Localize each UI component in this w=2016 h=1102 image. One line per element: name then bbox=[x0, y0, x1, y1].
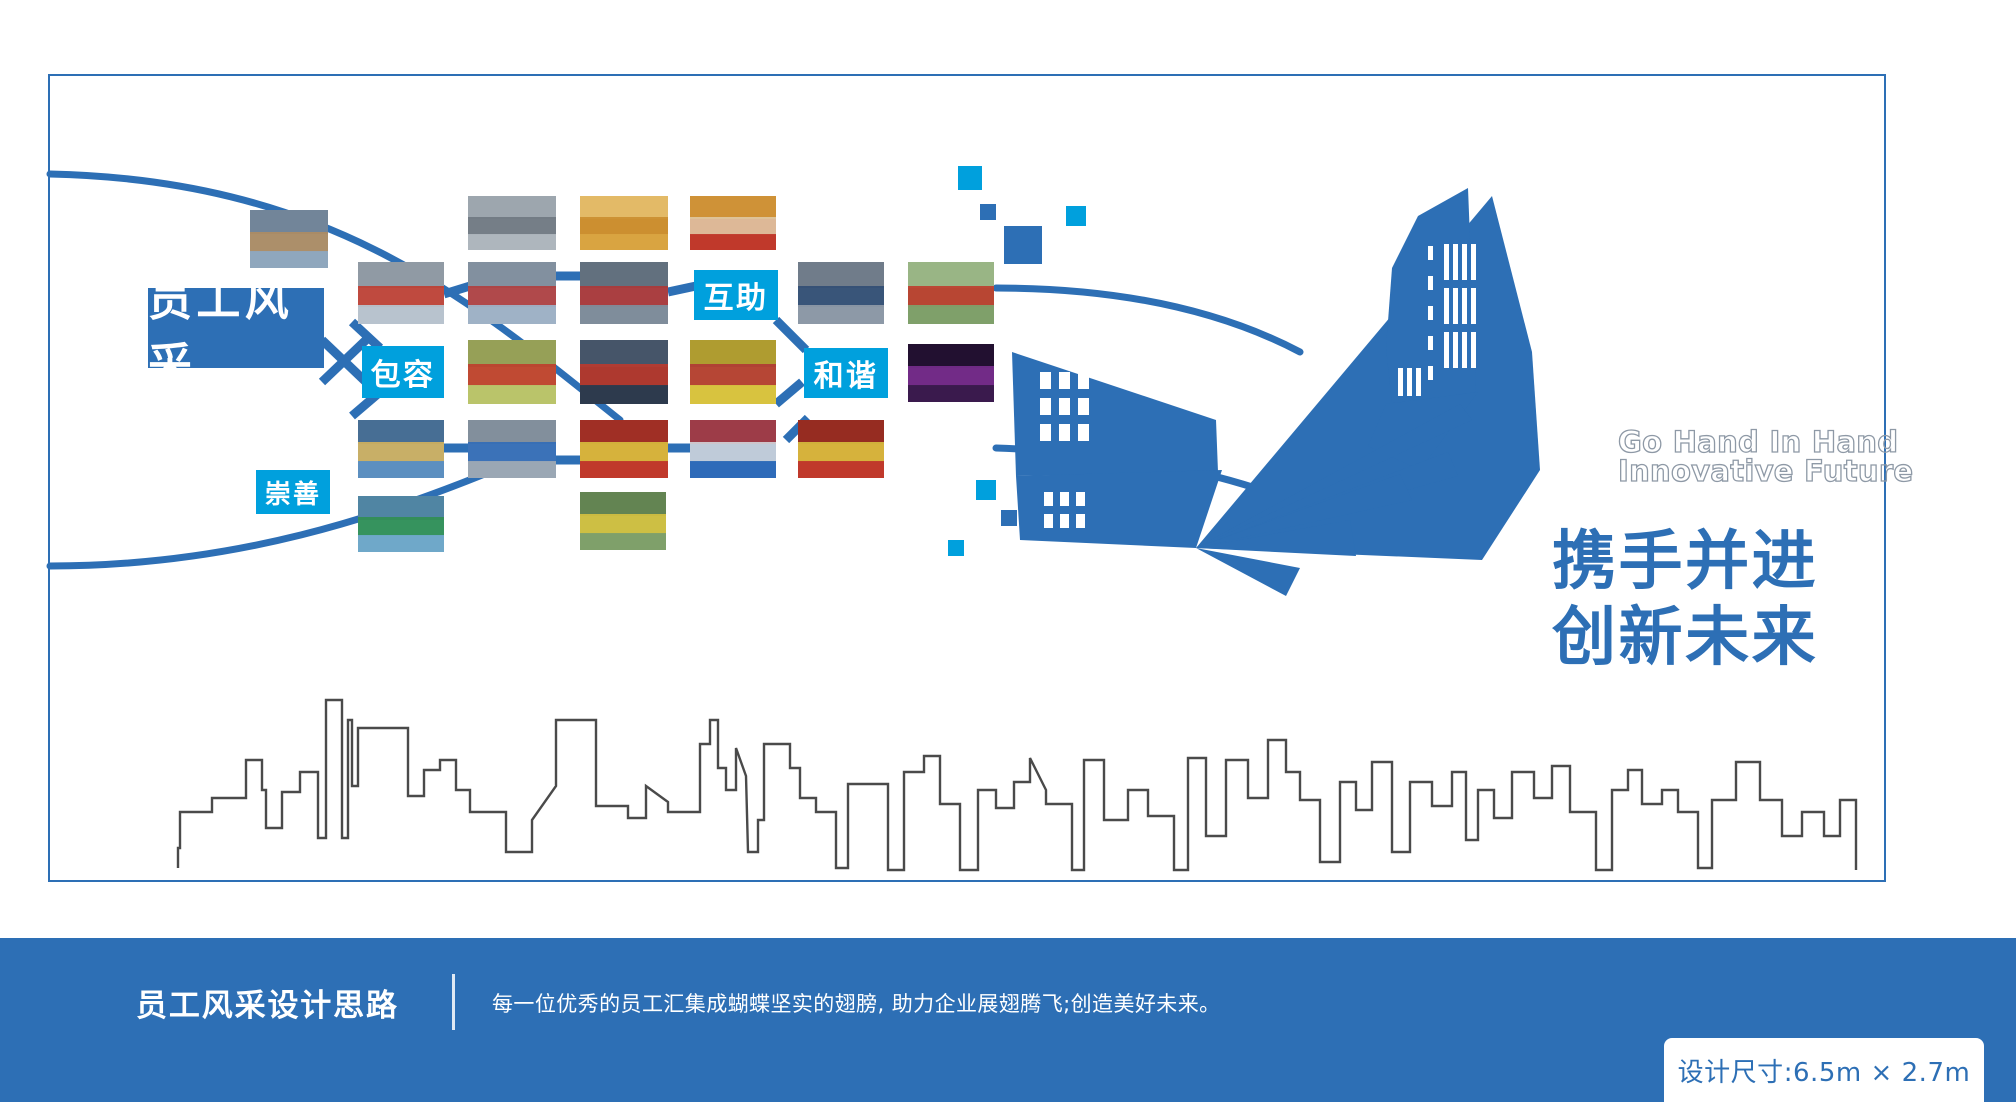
decorative-square-6 bbox=[1001, 510, 1017, 526]
slogan-en-line2: Innovative Future bbox=[1618, 457, 1878, 486]
photo-volunteers-digging bbox=[250, 210, 328, 268]
photo-flag-ceremony bbox=[798, 420, 884, 478]
chip-chongshan: 崇善 bbox=[256, 470, 330, 514]
slogan-cn-line1: 携手并进 bbox=[1552, 525, 1932, 601]
slogan-en-line1: Go Hand In Hand bbox=[1618, 428, 1878, 457]
photo-yellow-jersey-team bbox=[690, 340, 776, 404]
design-size-text: 设计尺寸:6.5m × 2.7m bbox=[1678, 1052, 1971, 1089]
decorative-square-7 bbox=[948, 540, 964, 556]
decorative-square-2 bbox=[980, 204, 996, 220]
photo-site-inspection-walk bbox=[468, 420, 556, 478]
photo-school-sports-lineup bbox=[358, 496, 444, 552]
photo-stage-group-portrait bbox=[580, 420, 668, 478]
photo-tug-of-war-teamwork bbox=[358, 420, 444, 478]
chip-huzhu: 互助 bbox=[694, 270, 778, 320]
photo-night-stage-performance bbox=[908, 344, 994, 402]
photo-road-cleanup-winter bbox=[468, 196, 556, 250]
chip-baorong: 包容 bbox=[362, 346, 444, 398]
chip-hexie-label: 和谐 bbox=[814, 351, 879, 395]
decorative-square-5 bbox=[976, 480, 996, 500]
photo-hardhat-workers-briefing bbox=[468, 340, 556, 404]
chip-hexie: 和谐 bbox=[804, 348, 888, 398]
bottom-bar-title: 员工风采设计思路 bbox=[136, 980, 399, 1025]
photo-park-litter-pickup bbox=[580, 492, 666, 550]
main-title-chip: 员工风采 bbox=[148, 288, 324, 368]
slogan-chinese: 携手并进 创新未来 bbox=[1552, 525, 1932, 676]
chip-huzhu-label: 互助 bbox=[704, 273, 769, 317]
photo-street-sweeping-red-vests bbox=[358, 262, 444, 324]
poster-canvas: 员工风采 包容 崇善 互助 和谐 bbox=[0, 0, 2016, 898]
bottom-bar-description: 每一位优秀的员工汇集成蝴蝶坚实的翅膀, 助力企业展翅腾飞;创造美好未来。 bbox=[492, 988, 1221, 1018]
photo-indoor-basketball-court bbox=[580, 196, 668, 250]
bottom-bar-divider bbox=[452, 974, 455, 1030]
main-title-text: 员工风采 bbox=[148, 264, 324, 392]
slogan-cn-line2: 创新未来 bbox=[1552, 601, 1932, 677]
photo-basketball-game-players bbox=[580, 262, 668, 324]
slogan-english: Go Hand In Hand Innovative Future bbox=[1618, 428, 1878, 486]
photo-team-with-red-flag bbox=[580, 340, 668, 404]
photo-outdoor-dragon-parade bbox=[908, 262, 994, 324]
photo-factory-visit-group bbox=[798, 262, 884, 324]
chip-baorong-label: 包容 bbox=[371, 350, 436, 394]
decorative-square-3 bbox=[1004, 226, 1042, 264]
photo-basketball-dribble bbox=[690, 420, 776, 478]
photo-group-photo-city bbox=[468, 262, 556, 324]
chip-chongshan-label: 崇善 bbox=[265, 474, 321, 511]
decorative-square-4 bbox=[1066, 206, 1086, 226]
photo-festival-crowd-red-banner bbox=[690, 196, 776, 250]
decorative-square-1 bbox=[958, 166, 982, 190]
design-size-badge: 设计尺寸:6.5m × 2.7m bbox=[1664, 1038, 1984, 1102]
